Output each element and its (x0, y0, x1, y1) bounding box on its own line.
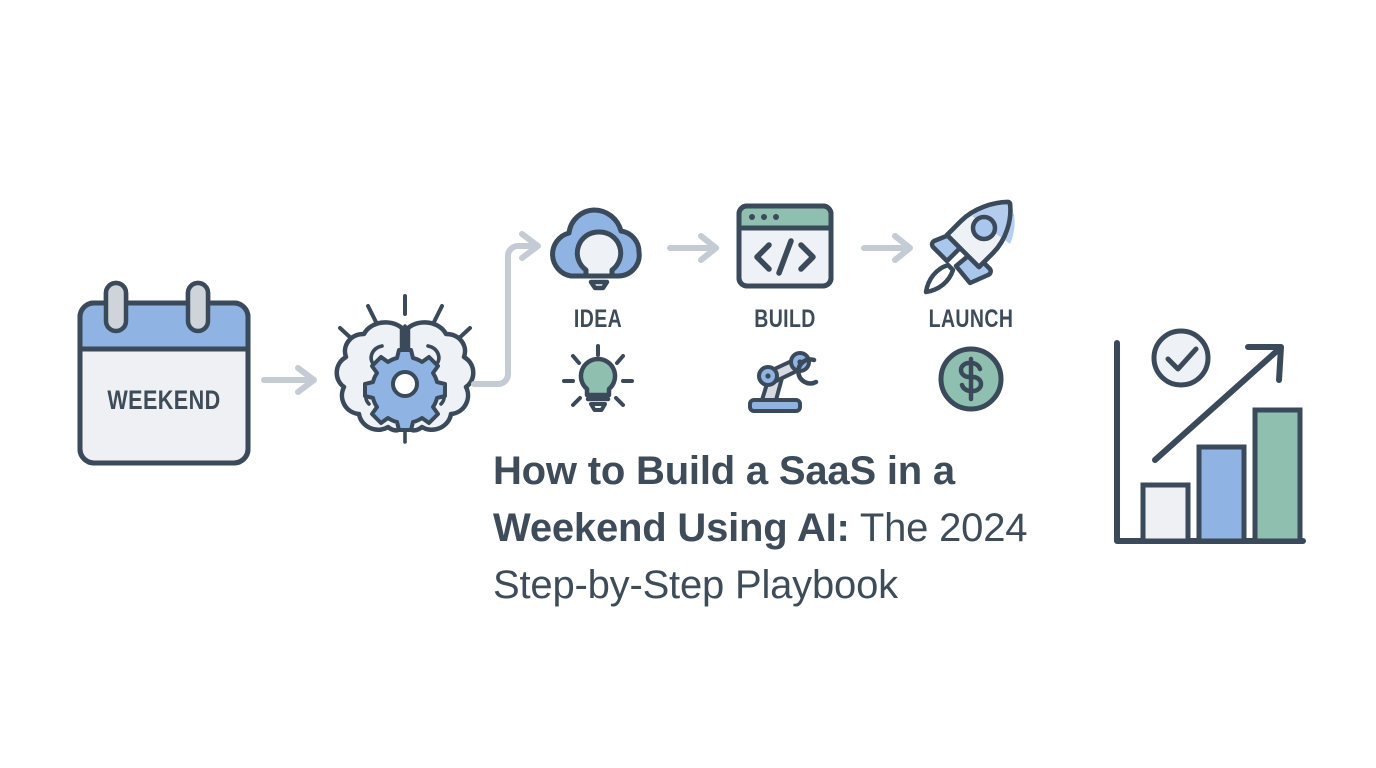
illustration-canvas: WEEKEND (0, 0, 1376, 768)
dollar-coin-icon (937, 345, 1005, 413)
bar-3 (1255, 410, 1300, 541)
bar-2 (1199, 447, 1244, 541)
cloud-lightbulb-icon (541, 198, 657, 290)
step-label-build: BUILD (727, 305, 844, 334)
calendar-icon (70, 275, 260, 475)
robot-arm-icon (742, 348, 826, 414)
brain-gear-icon (320, 292, 490, 467)
page-title: How to Build a SaaS in a Weekend Using A… (493, 443, 1093, 614)
step-label-launch: LAUNCH (913, 305, 1030, 334)
growth-chart (1105, 325, 1315, 555)
arrow-right-icon (862, 233, 920, 263)
arrow-right-icon (262, 365, 324, 395)
lightbulb-icon (561, 343, 635, 417)
code-window-icon (736, 203, 834, 289)
check-circle-icon (1154, 331, 1208, 385)
bar-1 (1143, 485, 1188, 541)
step-label-idea: IDEA (540, 305, 657, 334)
calendar-label: WEEKEND (87, 385, 241, 416)
arrow-right-icon (668, 233, 726, 263)
rocket-icon (920, 195, 1022, 297)
